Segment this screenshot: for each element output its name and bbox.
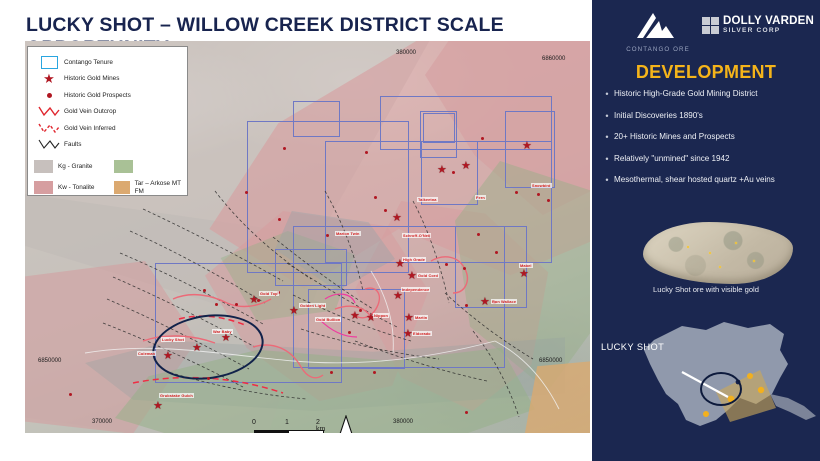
alaska-callout-label: LUCKY SHOT <box>601 342 664 352</box>
map-mine-label: Coleman <box>137 351 156 356</box>
legend-units: Kg - Granite Kw - Tonalite Tar – Arkose … <box>34 156 181 198</box>
map-legend: Contango Tenure ★ Historic Gold Mines Hi… <box>27 46 188 196</box>
map-coordinate-label: 380000 <box>396 50 416 56</box>
legend-label: Historic Gold Mines <box>64 75 119 82</box>
prospect-dot <box>283 147 286 150</box>
map-mine-label: War Baby <box>212 329 233 334</box>
legend-row: Faults <box>34 137 181 154</box>
scale-tick: 0 <box>252 419 256 426</box>
contango-mountain-icon <box>628 10 688 40</box>
historic-gold-mine-star: ★ <box>163 351 173 362</box>
scale-tick: 2 km <box>316 419 325 433</box>
dot-icon <box>34 93 64 98</box>
prospect-dot <box>373 371 376 374</box>
prospect-dot <box>495 251 498 254</box>
map-mine-label: Golden Light <box>299 303 326 308</box>
legend-label: Gold Vein Inferred <box>64 125 116 132</box>
historic-gold-mine-star: ★ <box>407 271 417 282</box>
map-mine-label: High Grade <box>402 257 426 262</box>
historic-gold-mine-star: ★ <box>221 333 231 344</box>
prospect-dot <box>537 193 540 196</box>
legend-unit-label: Tar – Arkose MT FM <box>135 180 181 195</box>
scale-seg <box>255 431 289 433</box>
prospect-dot <box>463 267 466 270</box>
bullet-dot-icon: • <box>600 88 614 100</box>
map-coordinate-label: 6850000 <box>539 358 562 364</box>
prospect-dot <box>69 393 72 396</box>
prospect-dot <box>374 196 377 199</box>
dolly-varden-sub: SILVER CORP <box>723 27 814 35</box>
prospect-dot <box>215 303 218 306</box>
prospect-dot <box>547 199 550 202</box>
slide-root: LUCKY SHOT – WILLOW CREEK DISTRICT SCALE… <box>0 0 820 461</box>
prospect-dot <box>245 191 248 194</box>
prospect-dot <box>235 303 238 306</box>
legend-unit-label: Kw - Tonalite <box>58 184 94 191</box>
prospect-dot <box>481 137 484 140</box>
map-mine-label: Talkeetna <box>417 197 438 202</box>
map-mine-label: Nippon <box>373 313 389 318</box>
unit-swatch <box>34 181 53 194</box>
historic-gold-mine-star: ★ <box>350 311 360 322</box>
historic-gold-mine-star: ★ <box>404 313 414 324</box>
historic-gold-mine-star: ★ <box>522 141 532 152</box>
map-mine-label: Grubstake Gulch <box>159 393 194 398</box>
ore-sample-photo <box>643 222 793 284</box>
ore-rock-shape <box>643 222 793 284</box>
bullet-text: Historic High-Grade Gold Mining District <box>614 88 757 100</box>
legend-row: Contango Tenure <box>34 54 181 71</box>
legend-label: Gold Vein Outcrop <box>64 108 116 115</box>
legend-row: ★ Historic Gold Mines <box>34 71 181 88</box>
bullet-text: Relatively "unmined" since 1942 <box>614 153 730 165</box>
historic-gold-mine-star: ★ <box>437 165 447 176</box>
project-marker <box>747 373 753 379</box>
map-mine-label: Lucky Shot <box>161 337 185 342</box>
map-mine-label: Independence <box>401 287 430 292</box>
north-arrow-icon <box>337 415 355 433</box>
dolly-varden-mark-icon <box>702 17 719 34</box>
bullet-text: Initial Discoveries 1890's <box>614 110 703 122</box>
prospect-dot <box>384 209 387 212</box>
prospect-dot <box>452 171 455 174</box>
unit-swatch <box>114 181 129 194</box>
historic-gold-mine-star: ★ <box>519 269 529 280</box>
black-zigzag-icon <box>34 139 64 150</box>
bullet-text: 20+ Historic Mines and Prospects <box>614 131 735 143</box>
prospect-dot <box>365 151 368 154</box>
dolly-varden-name: DOLLY VARDEN <box>723 16 814 27</box>
prospect-dot <box>445 263 448 266</box>
map-mine-label: Mabel <box>519 263 533 268</box>
map-coordinate-label: 380000 <box>393 419 413 425</box>
bullet-dot-icon: • <box>600 110 614 122</box>
contango-logo: CONTANGO ORE <box>625 10 691 53</box>
bullet-dot-icon: • <box>600 174 614 186</box>
bullet-text: Mesothermal, shear hosted quartz +Au vei… <box>614 174 775 186</box>
map-mine-label: Ron Wallace <box>491 299 517 304</box>
prospect-dot <box>278 218 281 221</box>
legend-label: Historic Gold Prospects <box>64 92 131 99</box>
map-mine-label: Gold Cord <box>417 273 439 278</box>
aleutian-chain <box>770 394 816 420</box>
bullet-item: • Mesothermal, shear hosted quartz +Au v… <box>600 174 814 186</box>
map-mine-label: Gold Bullion <box>315 317 341 322</box>
red-zigzag-dashed-icon <box>34 123 64 134</box>
logo-bar: CONTANGO ORE DOLLY VARDEN SILVER CORP <box>592 8 820 56</box>
historic-gold-mine-star: ★ <box>461 161 471 172</box>
dolly-varden-logo: DOLLY VARDEN SILVER CORP <box>702 16 814 35</box>
bullet-dot-icon: • <box>600 153 614 165</box>
scale-tick: 1 <box>285 419 289 426</box>
prospect-dot <box>326 234 329 237</box>
map-mine-label: Snowbird <box>531 183 552 188</box>
prospect-dot <box>203 289 206 292</box>
prospect-dot <box>515 191 518 194</box>
historic-gold-mine-star: ★ <box>392 213 402 224</box>
red-zigzag-solid-icon <box>34 106 64 117</box>
historic-gold-mine-star: ★ <box>192 343 202 354</box>
prospect-dot <box>465 411 468 414</box>
legend-row: Gold Vein Inferred <box>34 120 181 137</box>
map-mine-label: Martin <box>414 315 428 320</box>
ore-caption: Lucky Shot ore with visible gold <box>592 285 820 294</box>
lucky-shot-inset-circle <box>700 372 742 406</box>
prospect-dot <box>207 377 210 380</box>
bullet-item: • 20+ Historic Mines and Prospects <box>600 131 814 143</box>
bullet-item: • Relatively "unmined" since 1942 <box>600 153 814 165</box>
legend-unit-green <box>114 156 181 177</box>
panel-bullet-list: • Historic High-Grade Gold Mining Distri… <box>600 88 814 196</box>
prospect-dot <box>330 371 333 374</box>
scale-bar: 0 1 2 km <box>254 419 324 433</box>
historic-gold-mine-star: ★ <box>480 297 490 308</box>
legend-label: Faults <box>64 141 81 148</box>
map-coordinate-label: 6850000 <box>38 358 61 364</box>
bullet-dot-icon: • <box>600 131 614 143</box>
historic-gold-mine-star: ★ <box>153 401 163 412</box>
contango-tenure-swatch <box>34 56 64 69</box>
bullet-item: • Initial Discoveries 1890's <box>600 110 814 122</box>
project-marker <box>758 387 764 393</box>
prospect-dot <box>348 331 351 334</box>
panel-heading: DEVELOPMENT <box>592 62 820 83</box>
contango-wordmark: CONTANGO ORE <box>625 46 691 53</box>
scale-bar-ticks: 0 1 2 km <box>254 419 322 430</box>
unit-swatch <box>114 160 133 173</box>
unit-swatch <box>34 160 53 173</box>
map-mine-label: Gold Top <box>259 291 279 296</box>
scale-bar-segments <box>254 430 324 433</box>
star-icon: ★ <box>34 72 64 85</box>
project-marker <box>703 411 709 417</box>
historic-gold-mine-star: ★ <box>393 291 403 302</box>
historic-gold-mine-star: ★ <box>249 295 259 306</box>
map-coordinate-label: 6860000 <box>542 56 565 62</box>
legend-unit-kw-tonalite: Kw - Tonalite <box>34 177 114 198</box>
legend-unit-label: Kg - Granite <box>58 163 92 170</box>
map-mine-label: Marion Twin <box>335 231 361 236</box>
legend-label: Contango Tenure <box>64 59 113 66</box>
map-mine-label: Eldorado <box>412 331 432 336</box>
prospect-dot <box>465 304 468 307</box>
legend-row: Historic Gold Prospects <box>34 87 181 104</box>
historic-gold-mine-star: ★ <box>289 306 299 317</box>
map-mine-label: Schroff-O'Neil <box>402 233 431 238</box>
bullet-item: • Historic High-Grade Gold Mining Distri… <box>600 88 814 100</box>
map-mine-label: Fern <box>475 195 486 200</box>
legend-row: Gold Vein Outcrop <box>34 104 181 121</box>
legend-unit-kg-granite: Kg - Granite <box>34 156 114 177</box>
map-coordinate-label: 370000 <box>92 419 112 425</box>
prospect-dot <box>477 233 480 236</box>
legend-unit-tar-arkose: Tar – Arkose MT FM <box>114 177 181 198</box>
